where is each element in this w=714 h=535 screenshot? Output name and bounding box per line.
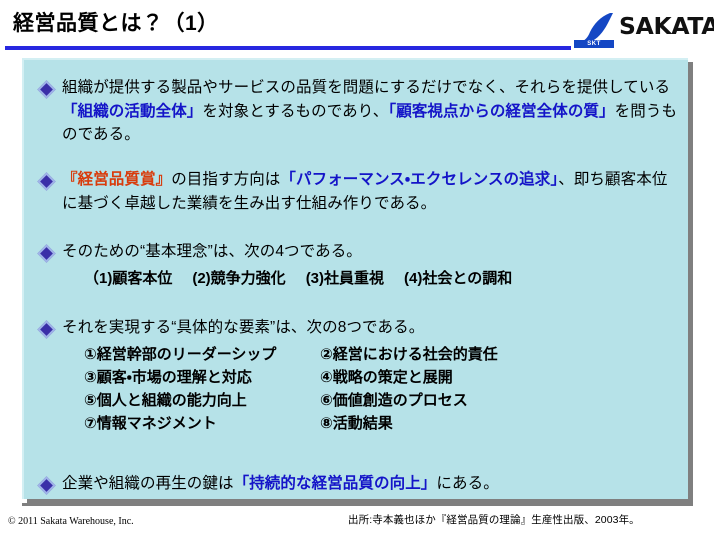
basic-principles-list: （1)顧客本位(2)競争力強化(3)社員重視(4)社会との調和 [62,267,680,290]
run-plain: にある。 [436,475,498,492]
content-panel-inner: 組織が提供する製品やサービスの品質を問題にするだけでなく、それらを提供している「… [24,60,690,501]
bullet-block-3-text: そのための“基本理念”は、次の4つである。 [62,240,680,264]
run-plain: の目指す方向は [171,171,280,188]
principle-item-2: (2)競争力強化 [192,270,285,287]
slide: 経営品質とは？（1） SKT SAKATA 組織が提供する製品やサービスの品質を… [0,0,714,535]
bullet-block-1: 組織が提供する製品やサービスの品質を問題にするだけでなく、それらを提供している「… [40,76,680,147]
sakata-logo: SKT SAKATA [566,12,706,48]
bullet-block-4-body: それを実現する“具体的な要素”は、次の8つである。 ①経営幹部のリーダーシップ … [62,316,680,435]
bullet-block-2-text: 『経営品質賞』の目指す方向は「パフォーマンス・エクセレンスの追求」、即ち顧客本位… [62,168,680,215]
source-citation: 出所:寺本義也ほか『経営品質の理論』生産性出版、2003年。 [348,513,640,527]
diamond-bullet-icon [40,76,62,101]
element-item-4: ④戦略の策定と展開 [320,366,453,389]
bullet-block-4-text: それを実現する“具体的な要素”は、次の8つである。 [62,316,680,340]
element-item-2: ②経営における社会的責任 [320,343,498,366]
element-item-1: ①経営幹部のリーダーシップ [84,343,320,366]
run-plain: 企業や組織の再生の鍵は [62,475,234,492]
bullet-block-1-body: 組織が提供する製品やサービスの品質を問題にするだけでなく、それらを提供している「… [62,76,680,147]
bullet-block-1-text: 組織が提供する製品やサービスの品質を問題にするだけでなく、それらを提供している「… [62,76,680,147]
run-plain: 組織が提供する製品やサービスの品質を問題にするだけでなく、それらを提供している [62,79,670,96]
element-row: ⑤個人と組織の能力向上 ⑥価値創造のプロセス [84,389,680,412]
logo-swoosh-icon [580,12,614,42]
footer-divider [22,503,693,506]
copyright-notice: © 2011 Sakata Warehouse, Inc. [8,515,134,528]
run-highlight-blue: 「顧客視点からの経営全体の質」 [388,103,614,120]
page-title: 経営品質とは？（1） [13,11,219,37]
element-item-7: ⑦情報マネジメント [84,412,320,435]
logo-sub-label: SKT [574,40,614,48]
concrete-elements-list: ①経営幹部のリーダーシップ ②経営における社会的責任 ③顧客・市場の理解と対応 … [62,343,680,435]
run-highlight-blue: 「組織の活動全体」 [62,103,202,120]
bullet-block-2-body: 『経営品質賞』の目指す方向は「パフォーマンス・エクセレンスの追求」、即ち顧客本位… [62,168,680,215]
element-item-6: ⑥価値創造のプロセス [320,389,468,412]
principle-item-1: （1)顧客本位 [84,270,172,287]
bullet-block-5-text: 企業や組織の再生の鍵は「持続的な経営品質の向上」にある。 [62,472,680,496]
run-plain: を対象とするものであり、 [202,103,388,120]
bullet-block-4: それを実現する“具体的な要素”は、次の8つである。 ①経営幹部のリーダーシップ … [40,316,680,435]
element-item-3: ③顧客・市場の理解と対応 [84,366,320,389]
diamond-bullet-icon [40,316,62,341]
run-highlight-red: 『経営品質賞』 [62,171,171,188]
bullet-block-2: 『経営品質賞』の目指す方向は「パフォーマンス・エクセレンスの追求」、即ち顧客本位… [40,168,680,215]
principle-item-4: (4)社会との調和 [404,270,512,287]
element-row: ③顧客・市場の理解と対応 ④戦略の策定と展開 [84,366,680,389]
element-row: ①経営幹部のリーダーシップ ②経営における社会的責任 [84,343,680,366]
slide-header: 経営品質とは？（1） SKT SAKATA [0,0,714,52]
logo-wordmark: SAKATA [619,14,714,40]
basic-principles-row: （1)顧客本位(2)競争力強化(3)社員重視(4)社会との調和 [84,267,680,290]
content-panel: 組織が提供する製品やサービスの品質を問題にするだけでなく、それらを提供している「… [22,58,688,499]
run-highlight-blue: 「持続的な経営品質の向上」 [234,475,437,492]
element-row: ⑦情報マネジメント ⑧活動結果 [84,412,680,435]
bullet-block-3: そのための“基本理念”は、次の4つである。 （1)顧客本位(2)競争力強化(3)… [40,240,680,290]
bullet-block-5: 企業や組織の再生の鍵は「持続的な経営品質の向上」にある。 [40,472,680,497]
element-item-5: ⑤個人と組織の能力向上 [84,389,320,412]
bullet-block-3-body: そのための“基本理念”は、次の4つである。 （1)顧客本位(2)競争力強化(3)… [62,240,680,290]
diamond-bullet-icon [40,472,62,497]
element-item-8: ⑧活動結果 [320,412,393,435]
diamond-bullet-icon [40,240,62,265]
diamond-bullet-icon [40,168,62,193]
title-divider [5,46,571,50]
run-highlight-blue: 「パフォーマンス・エクセレンスの追求」 [280,171,558,188]
principle-item-3: (3)社員重視 [306,270,384,287]
bullet-block-5-body: 企業や組織の再生の鍵は「持続的な経営品質の向上」にある。 [62,472,680,496]
